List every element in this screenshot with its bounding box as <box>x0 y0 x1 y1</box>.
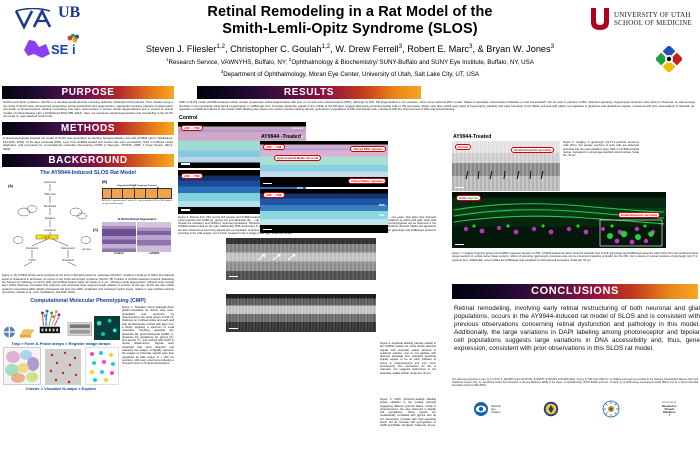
affiliation-line-2: 3Department of Ophthalmology, Moran Eye … <box>0 68 700 79</box>
nei-logo: NationalEyeInstitute <box>473 401 501 417</box>
tissue-block-icon <box>2 324 17 340</box>
fig7-glycine-label: Glycine <box>468 196 478 200</box>
column-left: PURPOSE Smith-Lemli-Opitz syndrome (SLOS… <box>2 86 174 392</box>
svg-text:HMG-CoA: HMG-CoA <box>44 193 55 196</box>
cmp-workflow-top-caption: Trap > Form & Probe arrays > Register im… <box>2 341 120 346</box>
svg-text:Zymosterol: Zymosterol <box>26 247 38 250</box>
gaba-glycine-signal-overlay <box>452 192 666 248</box>
ay9944-micrograph-lower: γQE → ΓQE RPE ONL <box>260 189 388 233</box>
cluster-map-image <box>3 347 41 385</box>
sei-logo: SE i <box>20 34 82 65</box>
utah-logo-line1: UNIVERSITY OF UTAH <box>614 11 692 19</box>
results-panel-ay9944-title: AY9944 -Treated <box>261 134 390 140</box>
affiliation-line-1: 1Research Service, VAWNYHS, Buffalo, NY;… <box>0 56 700 67</box>
histology-control-label: Control <box>102 252 136 255</box>
channel-label-ay9944-lower: γQE → ΓQE <box>263 192 285 198</box>
svg-text:(AY9944): (AY9944) <box>82 248 91 251</box>
svg-text:i: i <box>72 42 76 57</box>
dapi-micrograph: DAPI <box>226 294 376 332</box>
sprouting-arrows <box>462 169 548 181</box>
cmp-block: Trap > Form & Probe arrays > Register im… <box>2 306 174 392</box>
glycine-label: Glycine <box>455 144 471 150</box>
ub-logo-text: UB <box>58 4 80 21</box>
fig7-gaba-label: GABA <box>459 196 467 200</box>
panel-a-label: (A) <box>8 184 13 188</box>
histology-control-image <box>102 222 136 252</box>
svg-text:DHCR7: DHCR7 <box>44 237 52 239</box>
scale-bar-lower <box>181 209 190 210</box>
svg-text:Acetyl-CoA: Acetyl-CoA <box>44 181 56 184</box>
fig7-channel-labels: GABA Glycine <box>456 195 481 201</box>
histology-title: SLOS Rat Retinal Degeneration <box>102 218 172 221</box>
results-intro-text: CMP of SLOS model (AY9944-treated) retin… <box>179 101 695 112</box>
poster-columns: PURPOSE Smith-Lemli-Opitz syndrome (SLOS… <box>0 86 700 454</box>
conclusions-text: Retinal remodeling, involving early reti… <box>454 305 700 354</box>
scale-bar-aspartate <box>229 276 238 277</box>
nmap-visualization-image <box>45 349 81 385</box>
rpb-logo: SUPPORTED BY Research toPreventBlindness… <box>662 402 677 417</box>
explore-theta-map-image <box>85 347 119 385</box>
section-header-methods: METHODS <box>2 122 174 135</box>
aspartate-micrograph: Aspartate <box>226 238 376 280</box>
svg-text:Desmosterol: Desmosterol <box>61 247 75 250</box>
suny-eye-institute-logo <box>602 400 620 418</box>
cmp-workflow-bottom-row <box>2 347 120 385</box>
results-panel-ay9944b-title: AY9944-Treated <box>453 134 698 140</box>
ay9944-micrograph-upper: γQE → ΓQE Hypertrophied Müller microvill… <box>260 141 388 187</box>
scale-bar-ay9944-lower <box>263 229 272 230</box>
utah-logo-line2: SCHOOL OF MEDICINE <box>614 19 692 27</box>
layer-label-choroid: Choroid <box>292 126 304 130</box>
poster-root: UB SE i Retinal Remodeling in a Rat Mode… <box>0 0 700 454</box>
scale-bar-ay9944-upper <box>263 183 272 184</box>
figure-6-block: AY9944-Treated Glycine Dendritic/neuriti… <box>452 133 698 191</box>
background-subtitle: The AY9944-Induced SLOS Rat Model <box>2 170 174 176</box>
scale-bar-glycine <box>455 187 464 188</box>
fig7-annotation-sprouting: dendritic/neuritic sprouting <box>618 212 660 218</box>
figure-4-caption: Figure 4. Aspartate labeling (density sc… <box>380 342 436 375</box>
annotation-dendritic-sprouting: Dendritic/neuritic sprouting <box>511 147 554 153</box>
channel-label-ay9944-upper: γQE → ΓQE <box>263 144 285 150</box>
cmp-workflow-top-row <box>2 306 120 340</box>
moran-eye-center-logo <box>656 46 682 77</box>
histology-ay9944-image <box>137 222 171 252</box>
section-header-background: BACKGROUND <box>2 154 174 167</box>
figure-7-micrograph: GABA Glycine dendritic/neuritic sproutin… <box>452 192 666 248</box>
antibody-array-icon <box>37 308 65 340</box>
ay9944-treated-color-panels: AY9944 -Treated γQE → ΓQE Hypertrophied … <box>260 133 390 233</box>
panel-b-label: (B) <box>102 180 172 184</box>
scale-bar <box>181 163 190 164</box>
scale-bar-fig7 <box>455 244 464 245</box>
resin-block-icon <box>19 326 36 340</box>
figure-2-caption: Figure 2. Standard mixed aldehyde-fixed,… <box>122 306 174 392</box>
cholesterol-pathway-diagram: Acetyl-CoA HMG-CoA Mevalonate Squalene L… <box>2 178 98 270</box>
svg-text:Mevalonate: Mevalonate <box>44 205 57 208</box>
figure-6-caption: Figure 6. Imaging of glycinergic (GLYT-1… <box>563 141 639 191</box>
timeline-title: Expanded AY9944 Treatment Protocol <box>102 185 172 187</box>
scale-bar-dapi <box>229 328 238 329</box>
svg-text:Lanosterol: Lanosterol <box>44 229 56 232</box>
methods-text: A pharmacologically-induced rat model of… <box>3 137 173 151</box>
figure-7-caption: Figure 7. Imaging of glycine (green) and… <box>452 252 698 262</box>
veterans-affairs-seal-logo <box>543 401 559 417</box>
figure-1a-pathway: (A) Acetyl-CoA HMG-CoA Mevalonate <box>2 178 98 264</box>
results-panel-control-title: Control <box>179 115 440 121</box>
svg-text:SE: SE <box>51 42 69 57</box>
cmp-section-title: Computational Molecular Phenotyping (CMP… <box>2 298 174 304</box>
layer-label-rpe-ay: RPE <box>379 203 385 207</box>
annotation-altered-muller: Altered Müller signature <box>348 178 386 184</box>
ub-logo: UB <box>58 7 80 25</box>
annotation-altered-rpe: Altered RPE signature <box>350 146 386 152</box>
layer-label-onl-ay: ONL <box>379 213 385 217</box>
funding-logos-row: NationalEyeInstitute S <box>452 400 698 418</box>
va-logo <box>14 8 52 35</box>
cmp-workflow-bottom-caption: Cluster > Visualize N-maps > Explore <box>2 386 120 391</box>
channel-label-control-upper: γQE → ΓQE <box>181 125 203 131</box>
figure-1-panels: (A) Acetyl-CoA HMG-CoA Mevalonate <box>2 178 174 274</box>
cmp-workflow: Trap > Form & Probe arrays > Register im… <box>2 306 120 392</box>
author-list: Steven J. Fliesler1,2, Christopher C. Go… <box>0 41 700 55</box>
slide-scanner-icon <box>67 318 93 340</box>
figure-5-caption: Figure 5. DAPI (nitrosulfy-scaled) label… <box>380 398 436 428</box>
svg-text:Cholesterol: Cholesterol <box>62 259 75 262</box>
section-header-purpose: PURPOSE <box>2 86 174 99</box>
figure-1b-timeline: (B) Expanded AY9944 Treatment Protocol A… <box>102 180 172 205</box>
section-header-conclusions: CONCLUSIONS <box>452 284 698 299</box>
panel-c-label: (C) <box>93 228 98 232</box>
acknowledgments-text: This work was supported, in part, by a U… <box>452 379 698 388</box>
cmp-raw-image-icon <box>94 316 120 340</box>
svg-text:7-DHC: 7-DHC <box>28 259 36 262</box>
aspartate-arrows <box>256 252 302 262</box>
purpose-text: Smith-Lemli-Opitz syndrome (SLOS) is a d… <box>3 101 173 119</box>
histology-ay9944-label: +AY9944 <box>137 252 171 255</box>
section-header-results: RESULTS <box>197 86 421 99</box>
university-of-utah-logo: UNIVERSITY OF UTAH SCHOOL OF MEDICINE <box>589 6 692 32</box>
svg-text:Squalene: Squalene <box>45 217 56 220</box>
poster-header: UB SE i Retinal Remodeling in a Rat Mode… <box>0 0 700 86</box>
figure-1-caption: Figure 1. (A) AY9944 blocks sterol synth… <box>2 274 174 294</box>
figure-1c-histology: SLOS Rat Retinal Degeneration (C) Contro… <box>102 218 172 255</box>
channel-label-control-lower: γQE → ΓQE <box>181 173 203 179</box>
utah-u-icon <box>589 6 611 32</box>
annotation-hypertrophied-muller: Hypertrophied Müller microvilli <box>274 155 321 161</box>
glycine-greyscale-micrograph: Glycine Dendritic/neuritic sprouting <box>452 141 560 191</box>
eye-icon <box>473 401 489 417</box>
